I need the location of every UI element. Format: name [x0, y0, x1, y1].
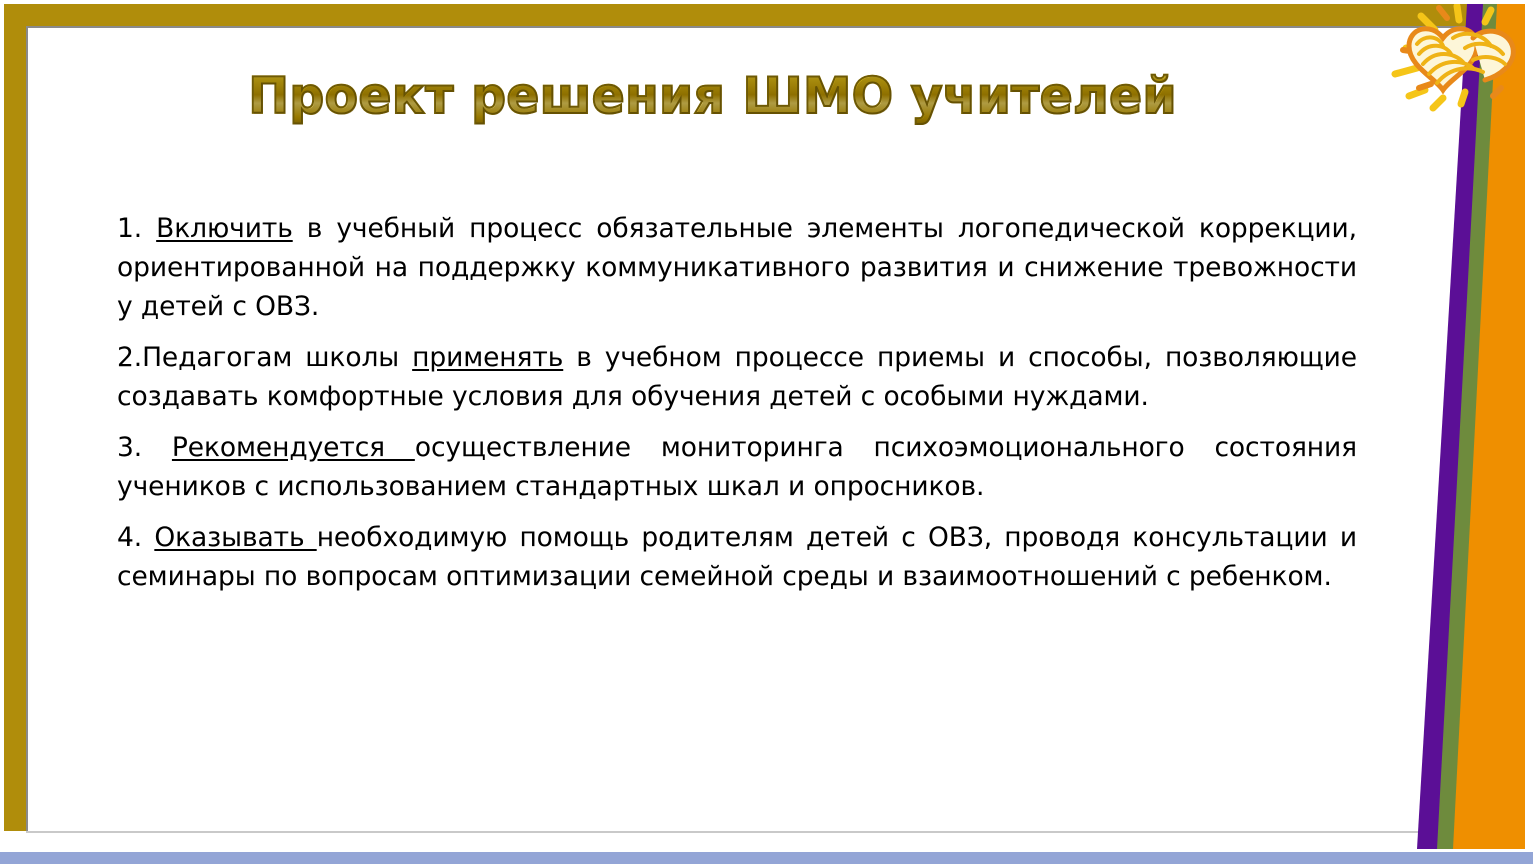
paragraph-4-prefix: 4. [117, 522, 154, 553]
slide-frame-bottom [4, 831, 1525, 849]
page-title[interactable]: Проект решения ШМО учителей [249, 66, 1178, 126]
paragraph-1-rest: в учебный процесс обязательные элементы … [117, 213, 1357, 322]
title-container: Проект решения ШМО учителей [28, 66, 1398, 126]
slide-frame-top [4, 4, 1525, 26]
slide-frame-left [4, 4, 26, 849]
slide-frame-inner-line-bottom [26, 831, 1525, 833]
slide-frame-inner-line-top [26, 26, 1525, 28]
paragraph-1-prefix: 1. [117, 213, 156, 244]
slide-frame-inner-line-left [26, 26, 28, 849]
paragraph-3: 3. Рекомендуется осуществление мониторин… [117, 428, 1357, 506]
paragraph-2-prefix: 2.Педагогам школы [117, 342, 412, 373]
paragraph-3-emphasis: Рекомендуется [172, 432, 415, 463]
paragraph-1-emphasis: Включить [156, 213, 293, 244]
body-text-placeholder[interactable]: 1. Включить в учебный процесс обязательн… [117, 209, 1357, 596]
diagonal-stripes-decoration [1375, 4, 1525, 849]
purple-stripe [1417, 4, 1483, 849]
orange-stripe [1447, 4, 1525, 849]
window-bottom-bar [0, 852, 1533, 864]
presentation-window: Проект решения ШМО учителей 1. Включить … [0, 0, 1533, 864]
paragraph-3-prefix: 3. [117, 432, 172, 463]
paragraph-2: 2.Педагогам школы применять в учебном пр… [117, 338, 1357, 416]
paragraph-1: 1. Включить в учебный процесс обязательн… [117, 209, 1357, 326]
slide-canvas[interactable]: Проект решения ШМО учителей 1. Включить … [4, 4, 1525, 849]
paragraph-2-emphasis: применять [412, 342, 563, 373]
paragraph-4-emphasis: Оказывать [154, 522, 316, 553]
green-stripe [1431, 4, 1497, 849]
paragraph-4: 4. Оказывать необходимую помощь родителя… [117, 518, 1357, 596]
